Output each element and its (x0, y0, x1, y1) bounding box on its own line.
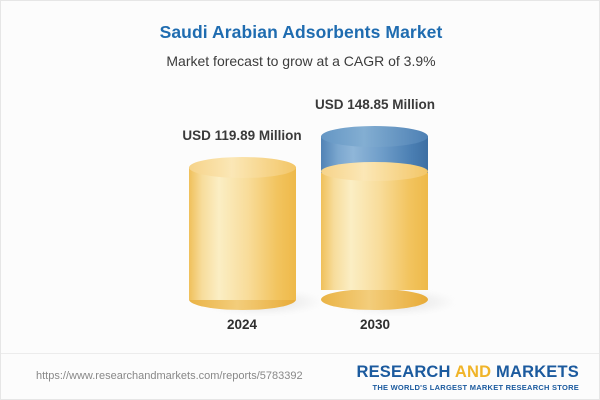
logo-word-and: AND (455, 363, 491, 381)
report-url[interactable]: https://www.researchandmarkets.com/repor… (36, 370, 303, 382)
footer: https://www.researchandmarkets.com/repor… (1, 353, 600, 400)
value-label-2030: USD 148.85 Million (265, 97, 485, 112)
category-label-2030: 2030 (265, 317, 485, 332)
chart-card: Saudi Arabian Adsorbents Market Market f… (0, 0, 600, 400)
brand-logo[interactable]: RESEARCH AND MARKETS THE WORLD'S LARGEST… (356, 363, 579, 392)
bar-cylinder-2030[interactable] (321, 126, 428, 309)
bar-bottom-cap-2030 (321, 289, 428, 310)
plot-area: USD 119.89 Million 2024 USD 148.85 Milli… (1, 1, 600, 353)
logo-tagline: THE WORLD'S LARGEST MARKET RESEARCH STOR… (356, 383, 579, 392)
bar-group-2030: USD 148.85 Million 2030 (265, 1, 485, 353)
bar-segment-divider-2030 (321, 162, 428, 181)
bar-top-cap-2030 (321, 126, 428, 147)
logo-wordmark: RESEARCH AND MARKETS (356, 363, 579, 382)
bar-base-segment-fill-2030 (321, 166, 428, 290)
logo-word-markets: MARKETS (496, 363, 579, 381)
logo-word-research: RESEARCH (356, 363, 450, 381)
